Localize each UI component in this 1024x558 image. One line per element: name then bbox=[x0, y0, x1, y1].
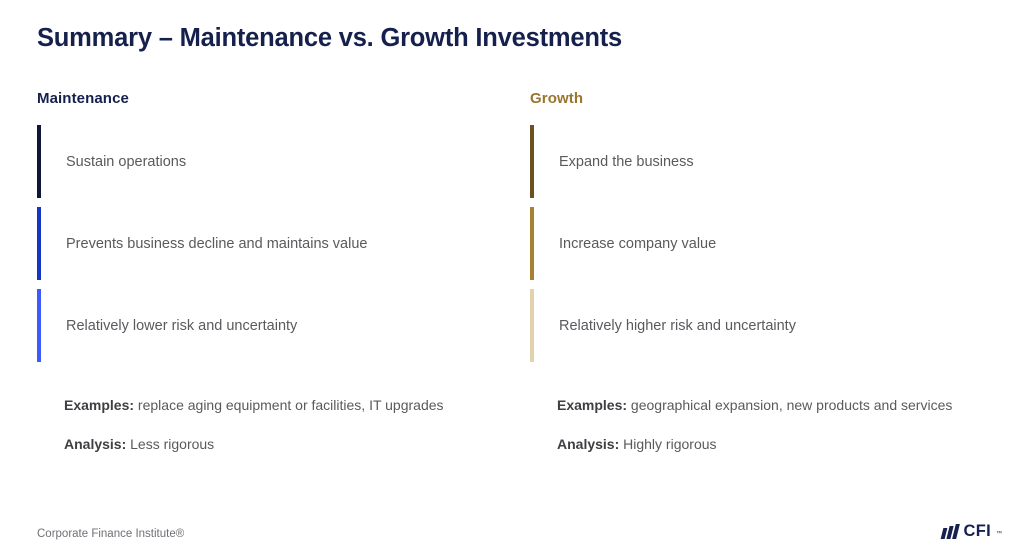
note-value: Less rigorous bbox=[126, 436, 214, 452]
note-label: Analysis: bbox=[557, 436, 619, 452]
note-value: Highly rigorous bbox=[619, 436, 716, 452]
note-label: Analysis: bbox=[64, 436, 126, 452]
accent-bar-icon bbox=[37, 125, 41, 198]
slide-canvas: Summary – Maintenance vs. Growth Investm… bbox=[0, 0, 1024, 558]
list-item: Increase company value bbox=[530, 207, 1000, 280]
footer-attribution: Corporate Finance Institute® bbox=[37, 527, 184, 541]
bullet-text: Prevents business decline and maintains … bbox=[37, 234, 367, 254]
bullet-text: Relatively lower risk and uncertainty bbox=[37, 316, 297, 336]
bullet-text: Expand the business bbox=[530, 152, 694, 172]
bullet-text: Relatively higher risk and uncertainty bbox=[530, 316, 796, 336]
cfi-logo: CFI ™ bbox=[942, 523, 1002, 539]
note-value: replace aging equipment or facilities, I… bbox=[134, 397, 443, 413]
note-analysis: Analysis: Highly rigorous bbox=[557, 435, 957, 454]
bullet-text: Sustain operations bbox=[37, 152, 186, 172]
page-title: Summary – Maintenance vs. Growth Investm… bbox=[37, 24, 622, 53]
bullet-list-maintenance: Sustain operations Prevents business dec… bbox=[37, 125, 507, 362]
column-maintenance: Maintenance Sustain operations Prevents … bbox=[37, 90, 507, 371]
accent-bar-icon bbox=[530, 289, 534, 362]
trademark-symbol: ™ bbox=[996, 530, 1002, 538]
notes-growth: Examples: geographical expansion, new pr… bbox=[557, 396, 957, 454]
accent-bar-icon bbox=[37, 289, 41, 362]
brand-wordmark: CFI bbox=[964, 523, 991, 539]
accent-bar-icon bbox=[530, 125, 534, 198]
note-analysis: Analysis: Less rigorous bbox=[64, 435, 464, 454]
column-heading-growth: Growth bbox=[530, 90, 1000, 108]
accent-bar-icon bbox=[530, 207, 534, 280]
notes-maintenance: Examples: replace aging equipment or fac… bbox=[64, 396, 464, 454]
list-item: Relatively higher risk and uncertainty bbox=[530, 289, 1000, 362]
bullet-text: Increase company value bbox=[530, 234, 716, 254]
note-label: Examples: bbox=[64, 397, 134, 413]
note-label: Examples: bbox=[557, 397, 627, 413]
cfi-slash-marks-icon bbox=[942, 524, 958, 539]
list-item: Sustain operations bbox=[37, 125, 507, 198]
note-examples: Examples: replace aging equipment or fac… bbox=[64, 396, 464, 415]
bullet-list-growth: Expand the business Increase company val… bbox=[530, 125, 1000, 362]
list-item: Relatively lower risk and uncertainty bbox=[37, 289, 507, 362]
list-item: Expand the business bbox=[530, 125, 1000, 198]
column-heading-maintenance: Maintenance bbox=[37, 90, 507, 108]
accent-bar-icon bbox=[37, 207, 41, 280]
note-value: geographical expansion, new products and… bbox=[627, 397, 952, 413]
list-item: Prevents business decline and maintains … bbox=[37, 207, 507, 280]
note-examples: Examples: geographical expansion, new pr… bbox=[557, 396, 957, 415]
column-growth: Growth Expand the business Increase comp… bbox=[530, 90, 1000, 371]
